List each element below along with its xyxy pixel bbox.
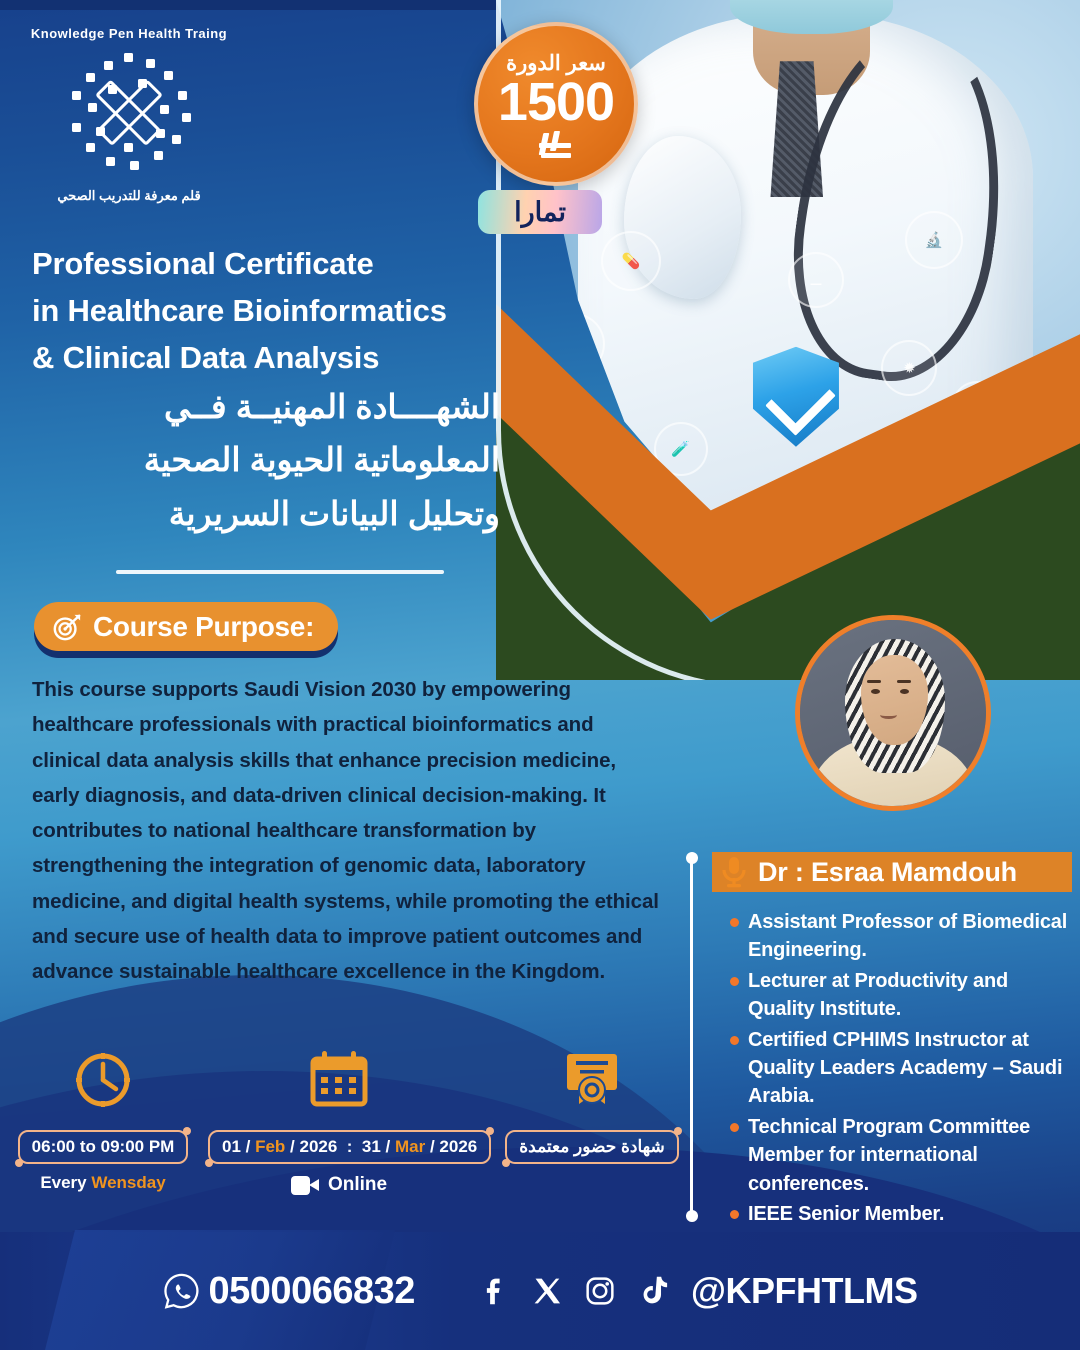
end-year: 2026 <box>439 1137 477 1157</box>
medical-cross-logo-icon <box>64 47 194 177</box>
video-camera-icon <box>291 1176 319 1195</box>
price-badge: سعر الدورة 1500 <box>474 22 638 186</box>
course-flyer-poster: 💊 ⚊ 🔬 🚑 ✹ 🧪 ⚗ 👁 🧬 ☎ 🏥 🩹 Knowledge Pen He… <box>0 0 1080 1350</box>
instructor-name-banner: Dr : Esraa Mamdouh <box>712 852 1072 892</box>
saudi-riyal-icon <box>539 131 573 161</box>
credential-item: Assistant Professor of Biomedical Engine… <box>728 908 1076 965</box>
start-month: Feb <box>255 1137 285 1157</box>
end-month: Mar <box>395 1137 425 1157</box>
instructor-credentials-list: Assistant Professor of Biomedical Engine… <box>728 908 1076 1230</box>
delivery-mode-label: Online <box>328 1174 387 1196</box>
whatsapp-contact[interactable]: 0500066832 <box>163 1270 415 1313</box>
microscope-icon: 🔬 <box>905 211 963 269</box>
date-separator: : <box>347 1137 353 1157</box>
weekday-highlight: Wensday <box>91 1173 165 1192</box>
title-line-3: & Clinical Data Analysis <box>32 334 552 381</box>
course-purpose-text: This course supports Saudi Vision 2030 b… <box>32 672 662 989</box>
credential-item: IEEE Senior Member. <box>728 1200 1076 1228</box>
title-ar-line-1: الشهــــادة المهنيــة فــي <box>20 380 500 433</box>
credential-item: Lecturer at Productivity and Quality Ins… <box>728 967 1076 1024</box>
calendar-icon <box>308 1050 370 1110</box>
start-day: 01 <box>222 1137 241 1157</box>
delivery-mode: Online <box>208 1174 470 1196</box>
logo-bottom-text: قلم معرفة للتدريب الصحي <box>22 188 236 204</box>
contact-footer: 0500066832 @KPFHTLMS <box>0 1232 1080 1350</box>
title-line-1: Professional Certificate <box>32 240 552 287</box>
certificate-award-icon <box>559 1050 625 1110</box>
instructor-avatar <box>795 615 991 811</box>
brand-logo: Knowledge Pen Health Traing <box>22 12 236 212</box>
date-range-pill: 01 / Feb / 2026 : 31 / Mar / 2026 <box>208 1130 491 1164</box>
certificate-tile: شهادة حضور معتمدة <box>492 1048 692 1164</box>
end-day: 31 <box>362 1137 381 1157</box>
price-amount: 1500 <box>498 76 614 129</box>
time-pill: 06:00 to 09:00 PM <box>18 1130 189 1164</box>
title-divider <box>116 570 444 574</box>
target-dart-icon <box>52 612 82 642</box>
clock-icon <box>72 1049 134 1111</box>
phone-number[interactable]: 0500066832 <box>209 1270 415 1313</box>
page-title-english: Professional Certificate in Healthcare B… <box>32 240 552 381</box>
instructor-timeline-connector <box>686 852 698 1222</box>
microphone-icon <box>720 856 748 888</box>
course-purpose-heading: Course Purpose: <box>34 602 338 651</box>
course-purpose-label: Course Purpose: <box>93 611 314 643</box>
certificate-pill: شهادة حضور معتمدة <box>505 1130 679 1164</box>
social-handle[interactable]: @KPFHTLMS <box>691 1270 918 1312</box>
title-ar-line-2: المعلوماتية الحيوية الصحية <box>20 433 500 486</box>
instagram-icon[interactable] <box>581 1272 619 1310</box>
pill-icon: 💊 <box>601 231 661 291</box>
x-twitter-icon[interactable] <box>527 1272 565 1310</box>
title-line-2: in Healthcare Bioinformatics <box>32 287 552 334</box>
syringe-icon: ⚊ <box>788 252 844 308</box>
credential-item: Certified CPHIMS Instructor at Quality L… <box>728 1026 1076 1111</box>
weekday-label: Every Wensday <box>8 1173 198 1193</box>
tamara-payment-badge: تمارا <box>478 190 602 234</box>
title-ar-line-3: وتحليل البيانات السريرية <box>20 487 500 540</box>
start-year: 2026 <box>300 1137 338 1157</box>
logo-top-text: Knowledge Pen Health Traing <box>22 26 236 41</box>
instructor-name: Dr : Esraa Mamdouh <box>758 857 1017 888</box>
page-title-arabic: الشهــــادة المهنيــة فــي المعلوماتية ا… <box>20 380 500 540</box>
social-links[interactable]: @KPFHTLMS <box>473 1270 918 1312</box>
schedule-date-tile: 01 / Feb / 2026 : 31 / Mar / 2026 Online <box>208 1048 470 1196</box>
facebook-icon[interactable] <box>473 1272 511 1310</box>
schedule-time-tile: 06:00 to 09:00 PM Every Wensday <box>8 1048 198 1193</box>
credential-item: Technical Program Committee Member for i… <box>728 1113 1076 1198</box>
whatsapp-icon[interactable] <box>163 1272 201 1310</box>
tiktok-icon[interactable] <box>635 1272 673 1310</box>
